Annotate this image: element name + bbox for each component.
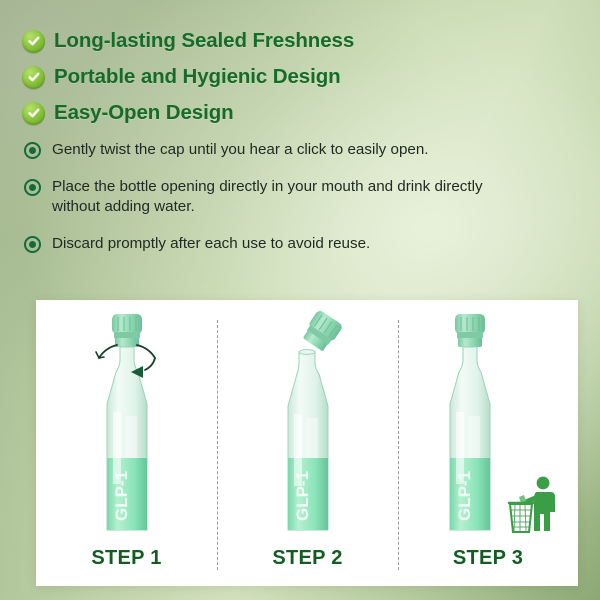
instruction-item-text: Gently twist the cap until you hear a cl… xyxy=(52,140,429,160)
bottle-label-text: GLP-1 xyxy=(293,471,312,521)
step-column-3: GLP-1 xyxy=(398,300,578,586)
step-label: STEP 2 xyxy=(217,547,398,570)
dispose-in-bin-icon xyxy=(506,474,562,534)
bottle-cap-removed-illustration: GLP-1 xyxy=(217,308,398,540)
instruction-item: Gently twist the cap until you hear a cl… xyxy=(24,140,524,160)
feature-item-label: Easy-Open Design xyxy=(54,101,234,125)
check-circle-icon xyxy=(22,30,45,53)
bottle-label-text: GLP-1 xyxy=(455,471,474,521)
feature-item: Long-lasting Sealed Freshness xyxy=(22,24,542,58)
instruction-item-text: Place the bottle opening directly in you… xyxy=(52,177,504,217)
feature-item-label: Portable and Hygienic Design xyxy=(54,65,341,89)
instruction-item-text: Discard promptly after each use to avoid… xyxy=(52,234,370,254)
bottle-twist-cap-illustration: GLP-1 xyxy=(36,308,217,540)
feature-item: Portable and Hygienic Design xyxy=(22,60,542,94)
feature-item-label: Long-lasting Sealed Freshness xyxy=(54,29,354,53)
instruction-item: Place the bottle opening directly in you… xyxy=(24,177,524,217)
bottle-dispose-illustration: GLP-1 xyxy=(398,308,578,540)
feature-item: Easy-Open Design xyxy=(22,96,542,130)
step-label: STEP 3 xyxy=(398,547,578,570)
instruction-list: Gently twist the cap until you hear a cl… xyxy=(24,140,524,271)
step-label: STEP 1 xyxy=(36,547,217,570)
feature-list: Long-lasting Sealed Freshness Portable a… xyxy=(22,24,542,132)
step-column-1: GLP-1 STEP 1 xyxy=(36,300,217,586)
check-circle-icon xyxy=(22,102,45,125)
radio-dot-icon xyxy=(24,142,41,159)
step-column-2: GLP-1 STEP 2 xyxy=(217,300,398,586)
radio-dot-icon xyxy=(24,179,41,196)
radio-dot-icon xyxy=(24,236,41,253)
instruction-item: Discard promptly after each use to avoid… xyxy=(24,234,524,254)
bottle-label-text: GLP-1 xyxy=(112,471,131,521)
check-circle-icon xyxy=(22,66,45,89)
steps-panel: GLP-1 STEP 1 xyxy=(36,300,578,586)
